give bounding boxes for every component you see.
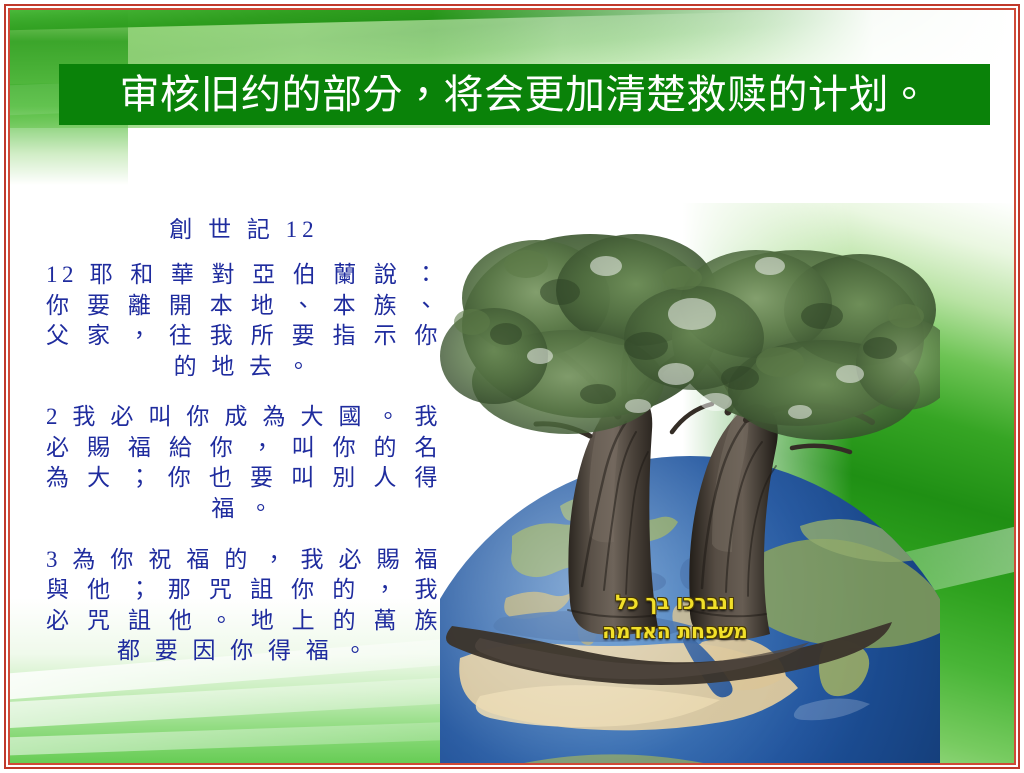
slide-canvas: ונברכו בך כל משפחת האדמה 审核旧约的部分，将会更加清楚救… xyxy=(10,10,1014,763)
scripture-reference-heading: 創 世 記 12 xyxy=(46,210,442,244)
earth-globe xyxy=(440,206,940,763)
hebrew-blessing-overlay: ונברכו בך כל משפחת האדמה xyxy=(570,588,780,646)
scripture-verse-2: 2 我 必 叫 你 成 為 大 國 。 我 必 賜 福 給 你 ， 叫 你 的 … xyxy=(46,402,442,524)
slide-title-bar: 审核旧约的部分，将会更加清楚救赎的计划。 xyxy=(59,64,990,125)
slide: ונברכו בך כל משפחת האדמה 审核旧约的部分，将会更加清楚救… xyxy=(0,0,1024,773)
olive-tree-on-globe-image xyxy=(440,206,940,763)
scripture-verse-3: 3 為 你 祝 福 的 ， 我 必 賜 福 與 他 ； 那 咒 詛 你 的 ， … xyxy=(46,545,442,667)
page-title: 审核旧约的部分，将会更加清楚救赎的计划。 xyxy=(120,75,930,115)
hebrew-line-1: ונברכו בך כל xyxy=(570,588,780,617)
scripture-verse-12: 12 耶 和 華 對 亞 伯 蘭 說 ： 你 要 離 開 本 地 、 本 族 、… xyxy=(46,260,442,382)
scripture-block: 創 世 記 12 12 耶 和 華 對 亞 伯 蘭 說 ： 你 要 離 開 本 … xyxy=(46,210,442,667)
hebrew-line-2: משפחת האדמה xyxy=(570,617,780,646)
tree-canopy xyxy=(440,234,940,440)
